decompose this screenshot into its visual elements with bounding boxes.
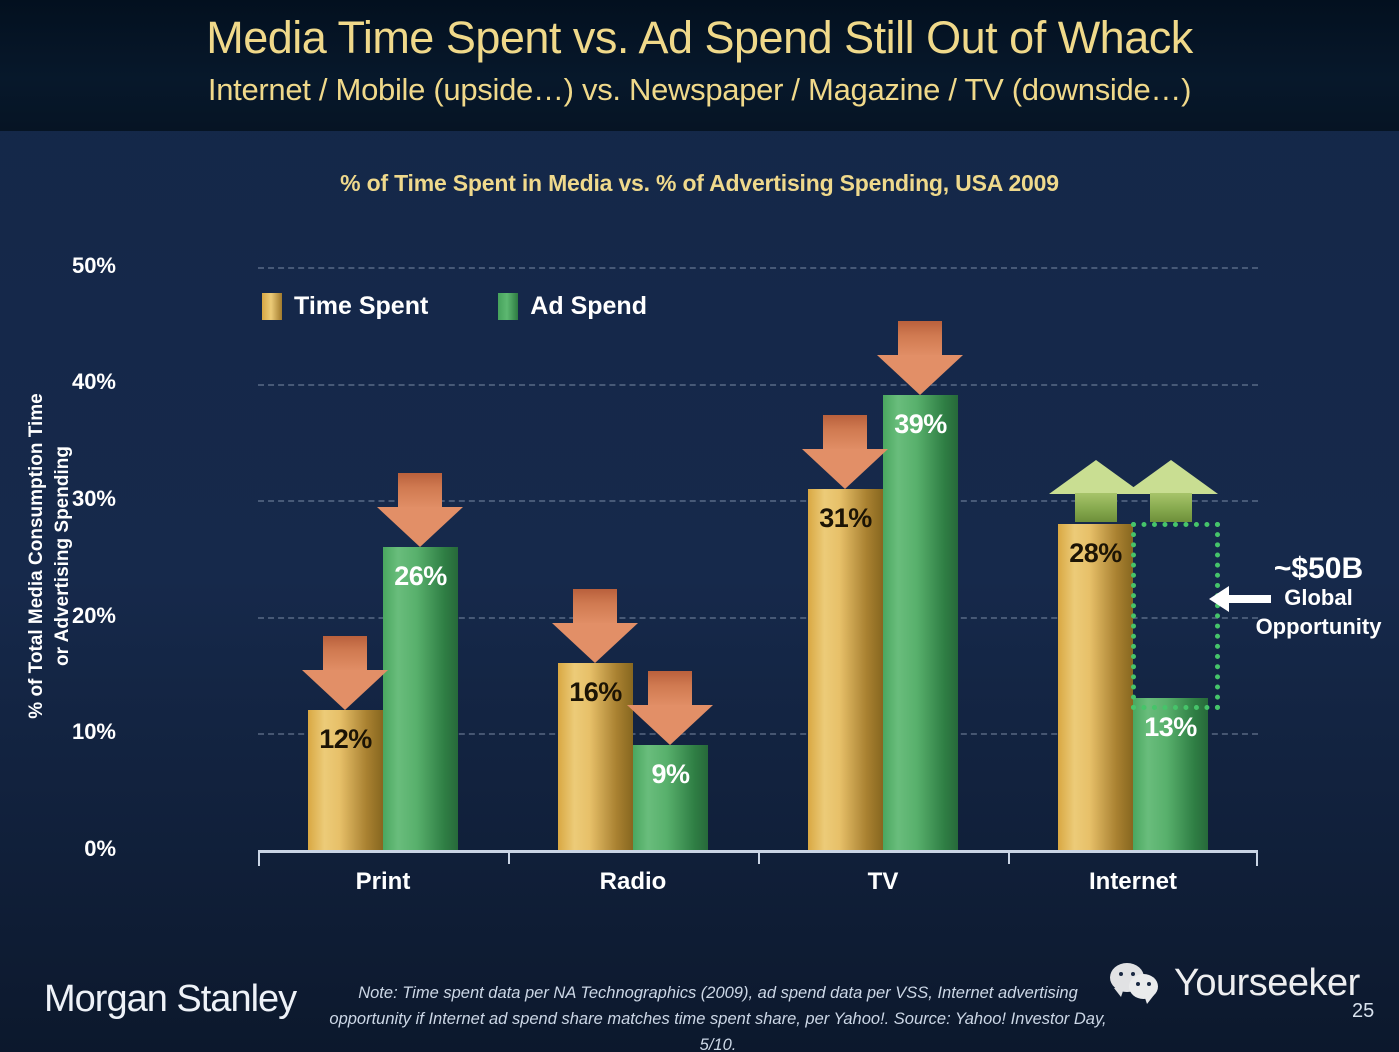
y-tick-label-0: 0%	[26, 836, 116, 862]
page-title: Media Time Spent vs. Ad Spend Still Out …	[0, 12, 1399, 64]
bar-print-time-spent[interactable]: 12%	[308, 710, 383, 850]
arrow-shaft	[1150, 493, 1192, 522]
x-axis-tick-end	[1256, 850, 1258, 866]
down-arrow-tv-time-spent	[802, 415, 888, 489]
wechat-eye	[1119, 972, 1123, 976]
slide-canvas: Media Time Spent vs. Ad Spend Still Out …	[0, 0, 1399, 1052]
bar-value-tv-ad-spend: 39%	[883, 409, 958, 440]
down-arrow-print-time-spent	[302, 636, 388, 710]
morgan-stanley-logo: Morgan Stanley	[44, 978, 296, 1021]
watermark: Yourseeker	[1110, 962, 1360, 1005]
opportunity-gap-box	[1131, 522, 1220, 710]
arrow-head	[552, 623, 638, 663]
y-tick-label-30: 30%	[26, 486, 116, 512]
legend-label-ad-spend: Ad Spend	[530, 292, 647, 321]
arrow-head	[377, 507, 463, 547]
footnote-line-2: spend share matches time spent share, pe…	[512, 1010, 1107, 1052]
y-tick-label-40: 40%	[26, 369, 116, 395]
x-axis-label-internet: Internet	[1033, 868, 1233, 896]
watermark-text: Yourseeker	[1174, 962, 1360, 1005]
down-arrow-tv-ad-spend	[877, 321, 963, 395]
legend-swatch-ad-spend	[498, 293, 518, 320]
arrow-shaft	[1075, 493, 1117, 522]
down-arrow-print-ad-spend	[377, 473, 463, 547]
bar-value-print-ad-spend: 26%	[383, 561, 458, 592]
bar-value-internet-ad-spend: 13%	[1133, 712, 1208, 743]
opportunity-desc-line-1: Global	[1238, 583, 1399, 612]
bar-radio-ad-spend[interactable]: 9%	[633, 745, 708, 850]
bar-internet-time-spent[interactable]: 28%	[1058, 524, 1133, 850]
bar-value-tv-time-spent: 31%	[808, 503, 883, 534]
arrow-shaft	[648, 671, 692, 707]
opportunity-desc-line-2: Opportunity	[1238, 612, 1399, 641]
chart-title: % of Time Spent in Media vs. % of Advert…	[0, 170, 1399, 197]
arrow-head	[802, 449, 888, 489]
bar-tv-ad-spend[interactable]: 39%	[883, 395, 958, 850]
opportunity-amount: ~$50B	[1238, 554, 1399, 583]
legend-label-time-spent: Time Spent	[294, 292, 428, 321]
x-axis-tick-print-radio	[508, 850, 510, 864]
gridline-40	[258, 384, 1258, 386]
y-axis-title: % of Total Media Consumption Time or Adv…	[24, 341, 76, 771]
chart-legend: Time Spent Ad Spend	[262, 292, 647, 321]
legend-item-time-spent[interactable]: Time Spent	[262, 292, 428, 321]
x-axis-tick-start	[258, 850, 260, 866]
bar-value-print-time-spent: 12%	[308, 724, 383, 755]
bar-value-radio-time-spent: 16%	[558, 677, 633, 708]
wechat-eye	[1131, 972, 1135, 976]
down-arrow-radio-ad-spend	[627, 671, 713, 745]
arrow-head	[302, 670, 388, 710]
bar-value-radio-ad-spend: 9%	[633, 759, 708, 790]
x-axis-label-tv: TV	[783, 868, 983, 896]
wechat-eye	[1136, 982, 1140, 986]
bar-print-ad-spend[interactable]: 26%	[383, 547, 458, 850]
arrow-shaft	[323, 636, 367, 672]
bar-value-internet-time-spent: 28%	[1058, 538, 1133, 569]
y-axis-title-line-2: or Advertising Spending	[50, 341, 76, 771]
y-tick-label-50: 50%	[26, 253, 116, 279]
arrow-head	[627, 705, 713, 745]
y-axis-title-line-1: % of Total Media Consumption Time	[24, 341, 50, 771]
wechat-eye	[1147, 982, 1151, 986]
plot-area: 12% 26% 16% 9% 31%	[258, 267, 1258, 850]
up-arrow-internet-ad-spend	[1124, 460, 1218, 522]
gridline-50	[258, 267, 1258, 269]
arrow-shaft	[398, 473, 442, 509]
arrow-head	[1209, 586, 1229, 612]
wechat-icon	[1110, 963, 1168, 1005]
bar-tv-time-spent[interactable]: 31%	[808, 489, 883, 850]
arrow-shaft	[898, 321, 942, 357]
arrow-shaft	[823, 415, 867, 451]
bar-internet-ad-spend[interactable]: 13%	[1133, 698, 1208, 850]
y-tick-label-20: 20%	[26, 603, 116, 629]
wechat-bubble-small	[1129, 974, 1158, 999]
down-arrow-radio-time-spent	[552, 589, 638, 663]
x-axis-label-print: Print	[283, 868, 483, 896]
x-axis-tick-radio-tv	[758, 850, 760, 864]
footnote: Note: Time spent data per NA Technograph…	[318, 980, 1118, 1052]
x-axis-label-radio: Radio	[533, 868, 733, 896]
bar-radio-time-spent[interactable]: 16%	[558, 663, 633, 850]
x-axis-tick-tv-internet	[1008, 850, 1010, 864]
page-subtitle: Internet / Mobile (upside…) vs. Newspape…	[0, 72, 1399, 108]
legend-swatch-time-spent	[262, 293, 282, 320]
opportunity-callout: ~$50B Global Opportunity	[1238, 554, 1399, 641]
legend-item-ad-spend[interactable]: Ad Spend	[498, 292, 647, 321]
arrow-head	[877, 355, 963, 395]
y-tick-label-10: 10%	[26, 719, 116, 745]
arrow-head	[1124, 460, 1218, 494]
arrow-shaft	[573, 589, 617, 625]
